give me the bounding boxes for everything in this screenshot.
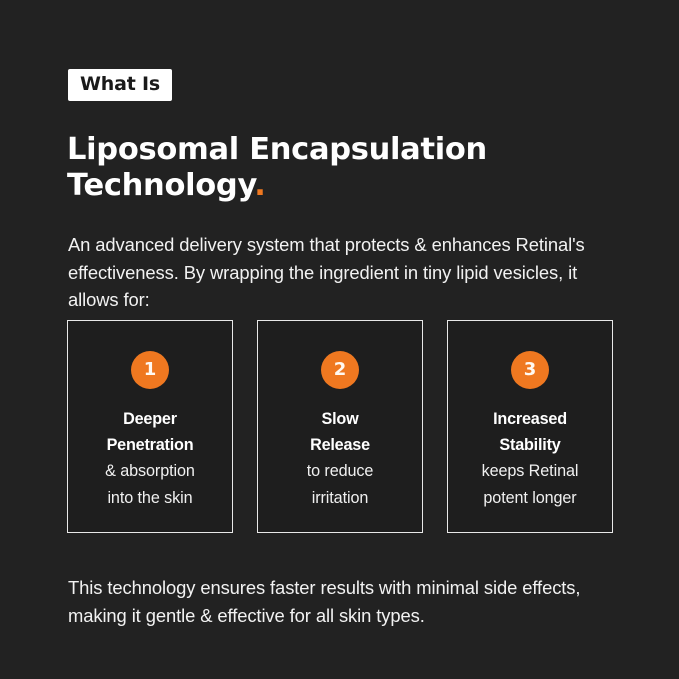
benefit-card-3-number-badge: 3 (511, 351, 549, 389)
benefit-card-1-sub-line-2: into the skin (107, 489, 192, 507)
benefit-card-2-sub-line-1: to reduce (307, 462, 374, 480)
page-title-line-1: Liposomal Encapsulation (67, 132, 487, 167)
closing-paragraph: This technology ensures faster results w… (68, 574, 630, 628)
eyebrow-badge: What Is (68, 69, 172, 101)
page-title: Liposomal Encapsulation Technology. (67, 132, 627, 203)
benefit-card-2-title-line-1: Slow (322, 410, 359, 428)
benefit-card-2-subtitle: to reduce irritation (307, 458, 374, 510)
benefit-card-3: 3 Increased Stability keeps Retinal pote… (447, 320, 613, 533)
benefit-card-3-sub-line-2: potent longer (483, 489, 576, 507)
page-title-line-2: Technology (67, 168, 254, 203)
benefit-card-3-title: Increased Stability (482, 406, 579, 458)
infographic-panel: What Is Liposomal Encapsulation Technolo… (0, 0, 679, 679)
benefit-card-3-sub-line-1: keeps Retinal (482, 462, 579, 480)
accent-period: . (254, 168, 265, 203)
benefit-card-1: 1 Deeper Penetration & absorption into t… (67, 320, 233, 533)
benefit-card-2-body: Slow Release to reduce irritation (301, 406, 380, 511)
eyebrow-badge-wrap: What Is (68, 69, 172, 101)
benefit-card-2-sub-line-2: irritation (312, 489, 369, 507)
benefit-card-3-title-line-2: Stability (499, 436, 560, 454)
benefit-card-1-title: Deeper Penetration (105, 406, 195, 458)
benefit-card-3-body: Increased Stability keeps Retinal potent… (476, 406, 585, 511)
benefit-card-2-title-line-2: Release (310, 436, 370, 454)
benefit-card-1-title-line-1: Deeper (123, 410, 177, 428)
benefit-card-1-number-badge: 1 (131, 351, 169, 389)
benefit-card-1-body: Deeper Penetration & absorption into the… (99, 406, 201, 511)
benefit-card-2: 2 Slow Release to reduce irritation (257, 320, 423, 533)
benefit-card-2-title: Slow Release (307, 406, 374, 458)
benefit-card-1-subtitle: & absorption into the skin (105, 458, 195, 510)
benefit-card-3-title-line-1: Increased (493, 410, 567, 428)
benefit-card-1-title-line-2: Penetration (107, 436, 194, 454)
intro-paragraph: An advanced delivery system that protect… (68, 231, 630, 313)
benefit-card-3-subtitle: keeps Retinal potent longer (482, 458, 579, 510)
benefit-card-2-number-badge: 2 (321, 351, 359, 389)
benefit-cards-row: 1 Deeper Penetration & absorption into t… (67, 320, 613, 533)
benefit-card-1-sub-line-1: & absorption (105, 462, 195, 480)
